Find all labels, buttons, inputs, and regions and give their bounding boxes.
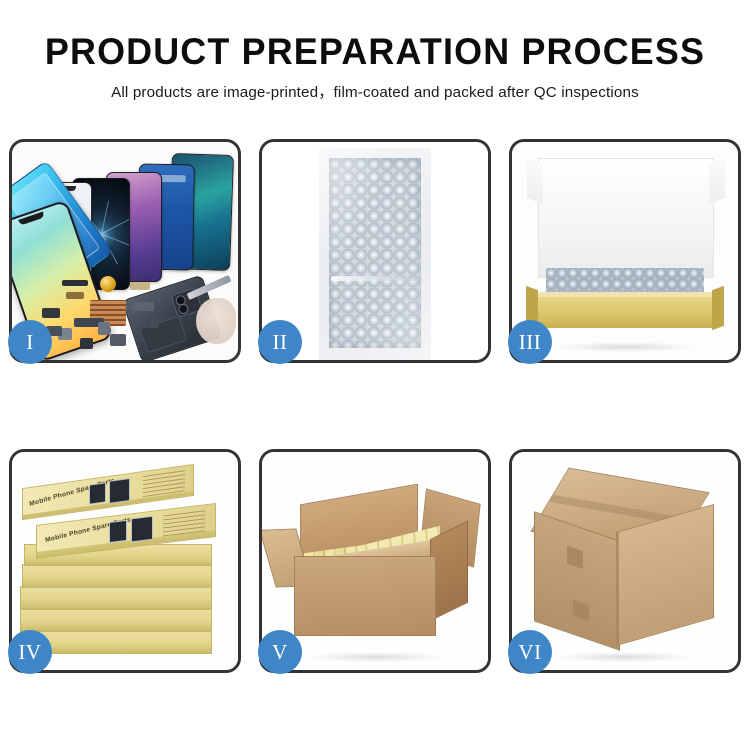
box-printed-lines xyxy=(163,509,205,536)
spare-part xyxy=(98,322,110,335)
step-badge-6: VI xyxy=(508,630,552,674)
spare-part xyxy=(66,292,84,299)
page-title: PRODUCT PREPARATION PROCESS xyxy=(11,30,739,74)
step-panel-2[interactable]: II xyxy=(259,139,491,363)
drop-shadow xyxy=(553,342,698,352)
bubble-wrap-sheet xyxy=(319,148,431,360)
yellow-box-tray xyxy=(536,292,714,328)
box-lid xyxy=(538,158,714,278)
stacked-box xyxy=(20,586,212,610)
step-badge-4: IV xyxy=(8,630,52,674)
step-panel-4[interactable]: Mobile Phone Spare Parts Mobile Phone Sp… xyxy=(9,449,241,673)
page-subtitle: All products are image-printed，film-coat… xyxy=(0,82,750,104)
drop-shadow xyxy=(553,652,698,662)
spare-part xyxy=(42,308,60,318)
stacked-box xyxy=(22,564,212,588)
printed-screen-graphic xyxy=(109,478,130,504)
drop-shadow xyxy=(303,652,448,662)
page-header: PRODUCT PREPARATION PROCESS All products… xyxy=(0,0,750,104)
printed-screen-graphic xyxy=(89,482,106,504)
step-badge-1: I xyxy=(8,320,52,364)
step-badge-2: II xyxy=(258,320,302,364)
step-panel-3[interactable]: III xyxy=(509,139,741,363)
spare-part xyxy=(130,282,150,290)
stacked-box xyxy=(20,608,212,632)
hand xyxy=(196,298,236,344)
spare-part xyxy=(132,302,154,311)
process-steps-grid: I II xyxy=(9,139,741,673)
printed-screen-graphic xyxy=(109,520,127,543)
spare-part xyxy=(110,334,126,346)
gold-component xyxy=(100,276,116,292)
carton-front-face xyxy=(294,556,436,636)
printed-screen-graphic xyxy=(131,516,153,543)
step-panel-1[interactable]: I xyxy=(9,139,241,363)
step-badge-5: V xyxy=(258,630,302,674)
spare-part xyxy=(148,318,159,328)
step-panel-6[interactable]: VI xyxy=(509,449,741,673)
plastic-sheen xyxy=(319,148,431,360)
spare-part xyxy=(80,338,93,349)
step-badge-3: III xyxy=(508,320,552,364)
battery-part xyxy=(139,316,187,354)
spare-part xyxy=(62,280,88,286)
step-panel-5[interactable]: V xyxy=(259,449,491,673)
